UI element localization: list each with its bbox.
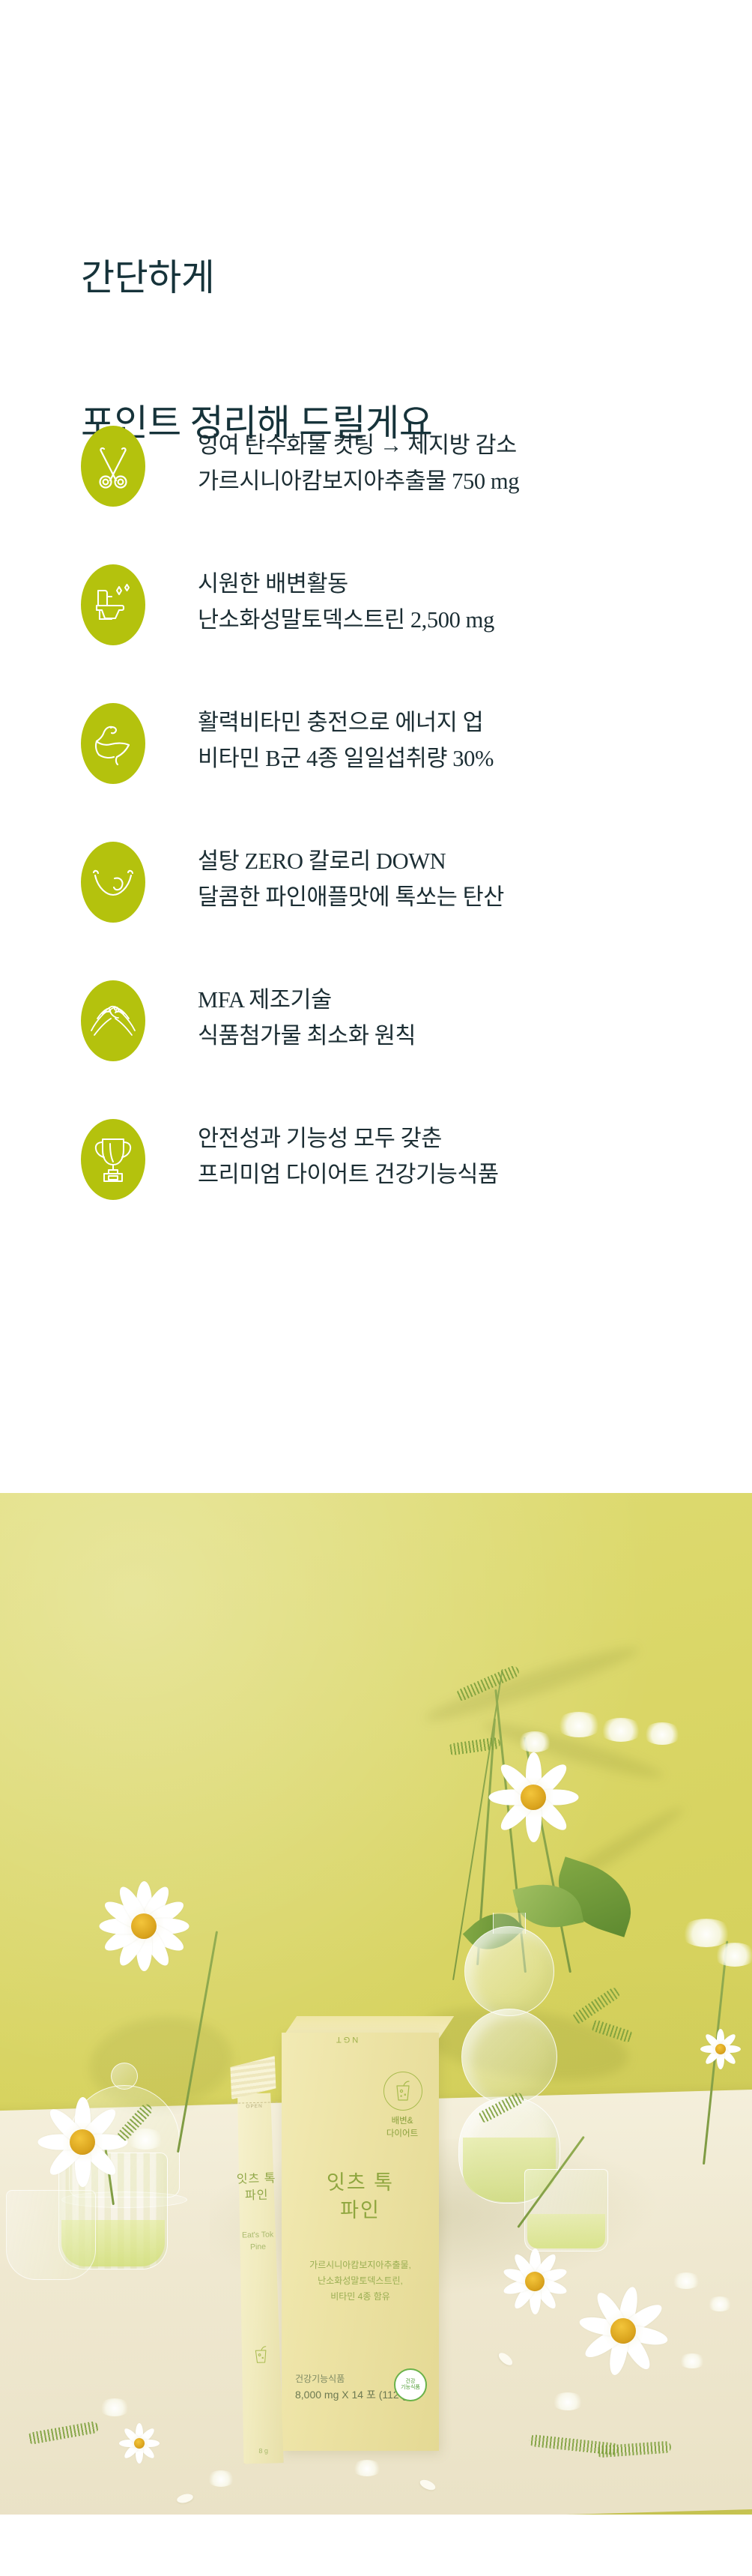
scissors-icon [81, 426, 145, 507]
white-umbel-flower [517, 1731, 553, 1752]
clasped-hands-icon [81, 980, 145, 1061]
list-item-line-2: 비타민 B군 4종 일일섭취량 30% [198, 740, 703, 776]
list-item-text: 안전성과 기능성 모두 갖춘 프리미엄 다이어트 건강기능식품 [198, 1113, 703, 1192]
list-item-line-1: 설탕 ZERO 칼로리 DOWN [198, 843, 703, 879]
ingredient-line-2: 난소화성말토덱스트린, [318, 2275, 403, 2286]
stick-product-name: 잇츠 톡 파인 [231, 2171, 282, 2205]
drink-glass-icon [236, 2344, 286, 2365]
benefit-list: 잉여 탄수화물 컷팅 → 체지방 감소 가르시니아캄보지아추출물 750 mg … [81, 420, 703, 1252]
stick-pouch: OPEN 잇츠 톡 파인 Eat's Tok Pine 8 g [228, 2058, 288, 2464]
white-umbel-on-table [99, 2398, 130, 2416]
stick-english-line-1: Eat's Tok [242, 2230, 273, 2239]
white-umbel-flower [643, 1722, 682, 1745]
open-tear-line: OPEN [231, 2102, 277, 2110]
white-umbel-on-table [679, 2353, 706, 2368]
brand-name: NGT [334, 2035, 358, 2044]
list-item: 설탕 ZERO 칼로리 DOWN 달콤한 파인애플맛에 톡쏘는 탄산 [81, 836, 703, 974]
badge-caption-line-1: 배변& [392, 2117, 413, 2126]
stick-pouch-crimp [227, 2056, 281, 2099]
ingredient-line-1: 가르시니아캄보지아추출물, [309, 2260, 411, 2270]
stick-english-line-2: Pine [250, 2242, 266, 2251]
toilet-icon [81, 564, 145, 645]
vase-bubble [461, 2009, 557, 2105]
list-item-line-1: 잉여 탄수화물 컷팅 → 체지방 감소 [198, 427, 703, 463]
package-spec-quantity: 8,000 mg X 14 포 (112 g) [295, 2389, 411, 2401]
package-spec-label: 건강기능식품 [295, 2374, 345, 2384]
badge-caption: 배변& 다이어트 [375, 2115, 430, 2140]
list-item: 잉여 탄수화물 컷팅 → 체지방 감소 가르시니아캄보지아추출물 750 mg [81, 420, 703, 558]
white-umbel-on-table [671, 2272, 701, 2289]
benefits-panel: 간단하게 포인트 정리해 드릴게요 잉여 탄수화물 컷팅 → 체지방 감소 가르… [0, 0, 752, 1493]
seal-line-2: 기능식품 [401, 2385, 420, 2391]
white-umbel-on-table [707, 2296, 733, 2311]
list-item: 시원한 배변활동 난소화성말토덱스트린 2,500 mg [81, 558, 703, 697]
stick-product-name-line-2: 파인 [245, 2189, 269, 2203]
list-item-line-2: 프리미엄 다이어트 건강기능식품 [198, 1156, 703, 1192]
list-item-text: 잉여 탄수화물 컷팅 → 체지방 감소 가르시니아캄보지아추출물 750 mg [198, 420, 703, 499]
product-photo: NGT 배변& 다이어트 잇츠 톡 파인 가르시니아캄보지아추출물, [0, 1493, 752, 2515]
list-item-line-2: 가르시니아캄보지아추출물 750 mg [198, 463, 703, 499]
health-functional-food-seal: 건강 기능식품 [394, 2368, 427, 2401]
seal-line-1: 건강 [406, 2379, 416, 2385]
glass-water [527, 2214, 605, 2248]
stick-pouch-body [232, 2093, 285, 2464]
white-umbel-flower [680, 1919, 733, 1947]
stick-product-name-english: Eat's Tok Pine [233, 2229, 283, 2254]
white-umbel-flower [556, 1712, 602, 1737]
list-item-line-2: 식품첨가물 최소화 원칙 [198, 1018, 703, 1054]
flexed-bicep-icon [81, 703, 145, 784]
list-item-text: 설탕 ZERO 칼로리 DOWN 달콤한 파인애플맛에 톡쏘는 탄산 [198, 836, 703, 915]
list-item-line-1: 시원한 배변활동 [198, 566, 703, 602]
white-umbel-on-table [207, 2470, 235, 2487]
vase-bubble [464, 1926, 554, 2016]
list-item: 안전성과 기능성 모두 갖춘 프리미엄 다이어트 건강기능식품 [81, 1113, 703, 1252]
white-umbel-flower [713, 1943, 752, 1967]
smiling-mouth-icon [81, 842, 145, 923]
box-front-face: NGT 배변& 다이어트 잇츠 톡 파인 가르시니아캄보지아추출물, [282, 2033, 439, 2451]
trophy-icon [81, 1119, 145, 1200]
drink-glass-icon [383, 2072, 422, 2111]
list-item-line-1: MFA 제조기술 [198, 982, 703, 1018]
white-umbel-flower [599, 1718, 643, 1742]
product-name: 잇츠 톡 파인 [282, 2169, 439, 2225]
list-item: MFA 제조기술 식품첨가물 최소화 원칙 [81, 974, 703, 1113]
stick-product-name-line-1: 잇츠 톡 [237, 2172, 276, 2186]
list-item-line-1: 활력비타민 충전으로 에너지 업 [198, 705, 703, 740]
badge-caption-line-2: 다이어트 [386, 2129, 418, 2138]
white-umbel-on-table [352, 2460, 382, 2476]
list-item-text: 활력비타민 충전으로 에너지 업 비타민 B군 4종 일일섭취량 30% [198, 697, 703, 776]
product-name-line-2: 파인 [340, 2199, 380, 2221]
list-item-text: 시원한 배변활동 난소화성말토덱스트린 2,500 mg [198, 558, 703, 638]
white-umbel-flower [126, 2129, 165, 2150]
ingredient-line-3: 비타민 4종 함유 [330, 2291, 390, 2302]
product-name-line-1: 잇츠 톡 [327, 2171, 394, 2194]
list-item-text: MFA 제조기술 식품첨가물 최소화 원칙 [198, 974, 703, 1054]
page-title-line-1: 간단하게 [81, 254, 432, 303]
stick-net-weight: 8 g [239, 2446, 288, 2455]
list-item: 활력비타민 충전으로 에너지 업 비타민 B군 4종 일일섭취량 30% [81, 697, 703, 836]
list-item-line-1: 안전성과 기능성 모두 갖춘 [198, 1120, 703, 1156]
product-package-box: NGT 배변& 다이어트 잇츠 톡 파인 가르시니아캄보지아추출물, [282, 2016, 439, 2451]
small-drinking-glass [524, 2169, 608, 2251]
ingredient-summary: 가르시니아캄보지아추출물, 난소화성말토덱스트린, 비타민 4종 함유 [282, 2257, 439, 2305]
small-glass-jar [6, 2190, 96, 2280]
white-umbel-on-table [551, 2392, 584, 2410]
list-item-line-2: 난소화성말토덱스트린 2,500 mg [198, 602, 703, 638]
list-item-line-2: 달콤한 파인애플맛에 톡쏘는 탄산 [198, 879, 703, 915]
